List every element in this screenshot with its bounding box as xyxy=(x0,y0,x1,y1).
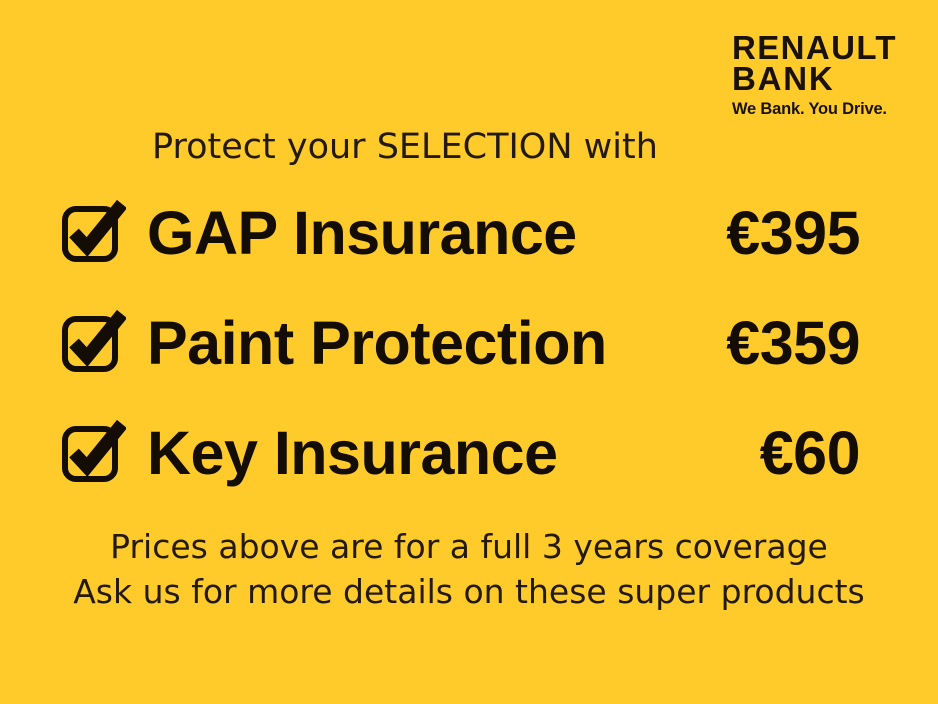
footer-line-2: Ask us for more details on these super p… xyxy=(0,569,938,614)
offer-price: €359 xyxy=(726,306,860,380)
checked-checkbox-icon xyxy=(60,420,126,486)
page-title: Protect your SELECTION with xyxy=(152,126,658,168)
brand-name-line1: RENAULT xyxy=(732,32,897,63)
brand-tagline: We Bank. You Drive. xyxy=(732,100,897,119)
list-item: GAP Insurance €395 xyxy=(0,196,938,306)
list-item: Key Insurance €60 xyxy=(0,416,938,526)
offer-list: GAP Insurance €395 Paint Protection €359… xyxy=(0,196,938,526)
list-item: Paint Protection €359 xyxy=(0,306,938,416)
promo-poster: RENAULT BANK We Bank. You Drive. Protect… xyxy=(0,0,938,704)
offer-price: €395 xyxy=(726,196,860,270)
brand-name-line2: BANK xyxy=(732,63,897,94)
offer-label: GAP Insurance xyxy=(147,196,577,270)
footer-notes: Prices above are for a full 3 years cove… xyxy=(0,524,938,614)
checked-checkbox-icon xyxy=(60,310,126,376)
checked-checkbox-icon xyxy=(60,200,126,266)
renault-bank-logo: RENAULT BANK We Bank. You Drive. xyxy=(732,32,897,119)
offer-price: €60 xyxy=(760,416,860,490)
offer-label: Key Insurance xyxy=(147,416,558,490)
offer-label: Paint Protection xyxy=(147,306,607,380)
footer-line-1: Prices above are for a full 3 years cove… xyxy=(0,524,938,569)
